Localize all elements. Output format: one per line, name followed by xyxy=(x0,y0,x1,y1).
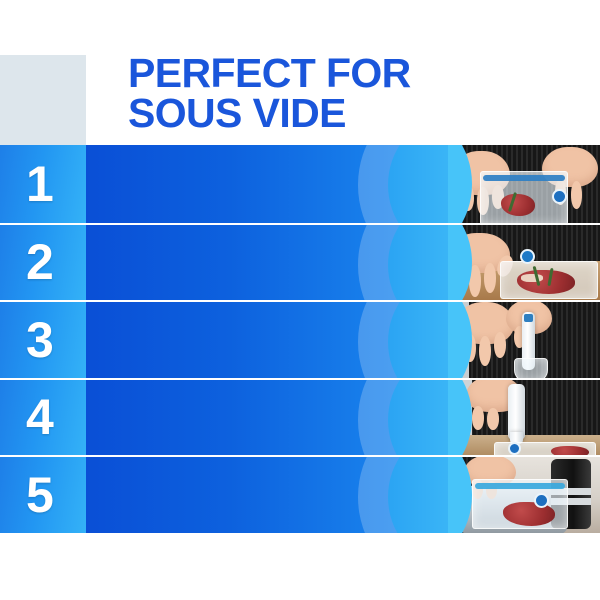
finger xyxy=(454,263,466,293)
bag-zipper-strip xyxy=(475,483,565,489)
finger xyxy=(464,334,476,362)
steak xyxy=(503,502,555,526)
clip-tip xyxy=(524,314,533,322)
step-5-number: 5 xyxy=(26,470,54,520)
background-wall xyxy=(448,302,469,378)
bag-zipper-strip xyxy=(483,175,565,181)
header: PERFECT FOR SOUS VIDE xyxy=(0,0,600,145)
finger xyxy=(462,185,474,211)
step-row-5: 5 PLACE IN SOUS VIDE BATH FOR COOKING xyxy=(0,455,600,533)
steak xyxy=(551,446,589,456)
step-1-number: 1 xyxy=(26,159,54,209)
step-2-photo xyxy=(448,225,600,301)
corner-accent-block xyxy=(0,55,86,145)
bag-valve-dot xyxy=(520,249,535,264)
steps-list: 1 PLACE FOOD & SPICES INTO BAG xyxy=(0,145,600,543)
finger xyxy=(494,332,506,358)
page-title: PERFECT FOR SOUS VIDE xyxy=(128,53,568,133)
step-2-number-panel: 2 xyxy=(0,225,86,301)
bag-valve-dot xyxy=(552,189,567,204)
step-4-number-panel: 4 xyxy=(0,380,86,456)
finger xyxy=(484,263,496,293)
step-5-photo xyxy=(448,457,600,533)
finger xyxy=(469,265,481,297)
step-4-photo xyxy=(448,380,600,456)
step-row-2: 2 PUSH AIR OUT OF THE BAG xyxy=(0,223,600,301)
step-1-number-panel: 1 xyxy=(0,145,86,223)
step-row-1: 1 PLACE FOOD & SPICES INTO BAG xyxy=(0,145,600,223)
sous-vide-instructions-infographic: PERFECT FOR SOUS VIDE 1 PLACE FOOD & SPI… xyxy=(0,0,600,600)
step-2-number: 2 xyxy=(26,237,54,287)
zipper-bag xyxy=(500,261,598,299)
zipper-bag xyxy=(514,358,548,378)
finger xyxy=(487,408,499,430)
steak xyxy=(517,270,575,294)
bottom-whitespace xyxy=(0,543,600,600)
fat-marbling xyxy=(521,274,543,282)
bag-valve-dot xyxy=(534,493,549,508)
finger xyxy=(571,181,582,209)
step-row-3: 3 SEAL FULLY WITH PROVIDED CLIP xyxy=(0,300,600,378)
finger xyxy=(479,336,491,366)
step-3-number-panel: 3 xyxy=(0,302,86,378)
bag-valve-dot xyxy=(508,442,521,455)
step-1-photo xyxy=(448,145,600,223)
step-4-number: 4 xyxy=(26,392,54,442)
food-in-bag xyxy=(501,194,535,216)
finger xyxy=(472,406,484,430)
step-3-number: 3 xyxy=(26,315,54,365)
step-row-4: 4 VACUUM OUT REMAINING AIR xyxy=(0,378,600,456)
zipper-bag xyxy=(472,479,568,529)
step-5-number-panel: 5 xyxy=(0,457,86,533)
step-3-photo xyxy=(448,302,600,378)
